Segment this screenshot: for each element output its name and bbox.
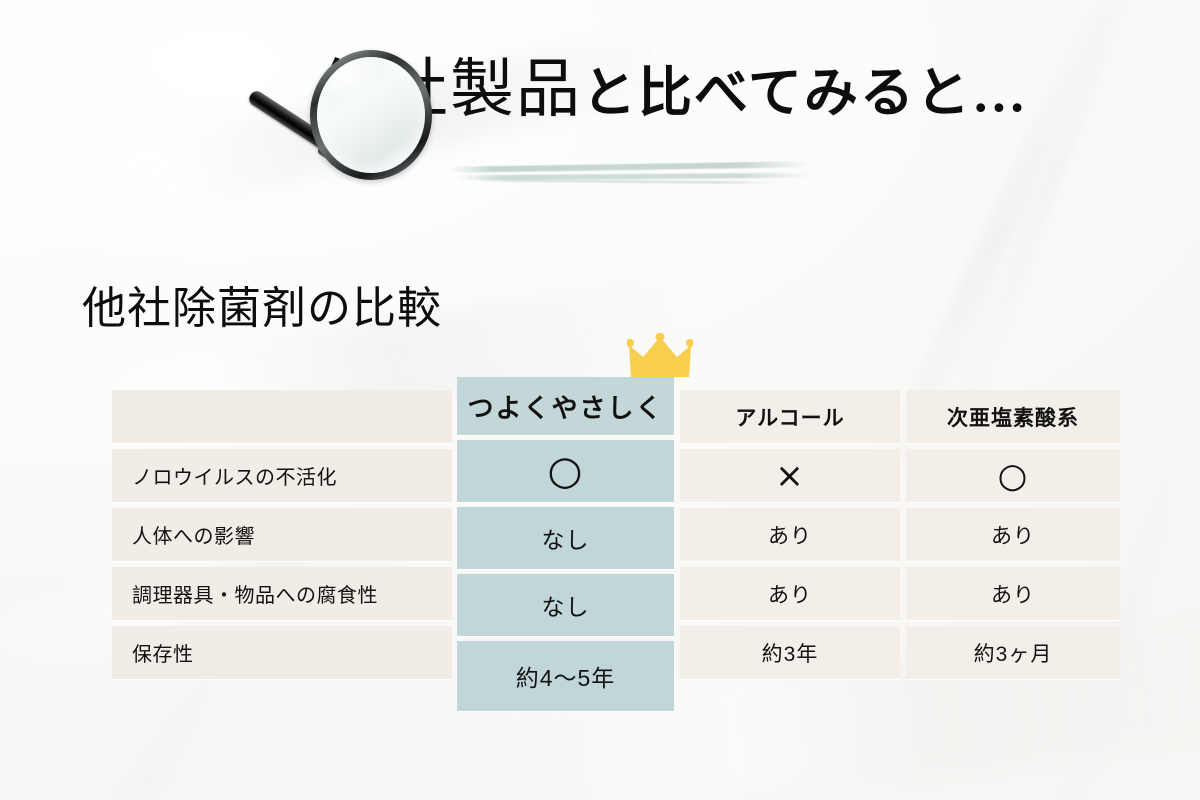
table-cell-chlorine-row3: あり	[906, 567, 1120, 620]
table-row-label: ノロウイルスの不活化	[112, 449, 452, 502]
table-row-label: 保存性	[112, 626, 452, 679]
table-cell-chlorine-row4: 約3ヶ月	[906, 626, 1120, 679]
table-header-alcohol: アルコール	[680, 390, 900, 443]
circle-mark-icon: ○	[548, 451, 584, 491]
table-cell-featured-row2: なし	[457, 507, 674, 569]
table-column-featured-product: つよくやさしく ○ なし なし 約4〜5年	[457, 377, 674, 716]
table-row-label: 調理器具・物品への腐食性	[112, 567, 452, 620]
slide-canvas: 他社製品と比べてみると… 他社除菌剤の比較 ノロウイルスの不活化	[0, 0, 1200, 800]
table-cell-featured-row4: 約4〜5年	[457, 641, 674, 711]
page-title-kana: と比べてみると…	[582, 63, 1028, 123]
table-cell-featured-row3: なし	[457, 574, 674, 636]
table-column-labels: ノロウイルスの不活化 人体への影響 調理器具・物品への腐食性 保存性	[112, 390, 452, 685]
title-underline-brush	[450, 160, 820, 190]
table-cell-alcohol-row4: 約3年	[680, 626, 900, 679]
table-cell-alcohol-row1: ×	[680, 449, 900, 502]
circle-mark-icon: ○	[998, 459, 1029, 493]
crown-icon	[627, 333, 693, 381]
table-header-chlorine: 次亜塩素酸系	[906, 390, 1120, 443]
comparison-table: ノロウイルスの不活化 人体への影響 調理器具・物品への腐食性 保存性 つよくやさ…	[112, 377, 1120, 722]
table-corner-cell	[112, 390, 452, 443]
cross-mark-icon: ×	[775, 459, 805, 493]
table-cell-alcohol-row3: あり	[680, 567, 900, 620]
title-block: 他社製品と比べてみると…	[0, 0, 1200, 230]
section-heading: 他社除菌剤の比較	[82, 272, 442, 336]
table-cell-chlorine-row2: あり	[906, 508, 1120, 561]
table-cell-alcohol-row2: あり	[680, 508, 900, 561]
table-cell-chlorine-row1: ○	[906, 449, 1120, 502]
table-column-chlorine: 次亜塩素酸系 ○ あり あり 約3ヶ月	[906, 390, 1120, 685]
table-cell-featured-row1: ○	[457, 440, 674, 502]
table-header-featured: つよくやさしく	[457, 377, 674, 435]
magnifying-glass-icon	[224, 52, 424, 212]
table-column-alcohol: アルコール × あり あり 約3年	[680, 390, 900, 685]
table-row-label: 人体への影響	[112, 508, 452, 561]
